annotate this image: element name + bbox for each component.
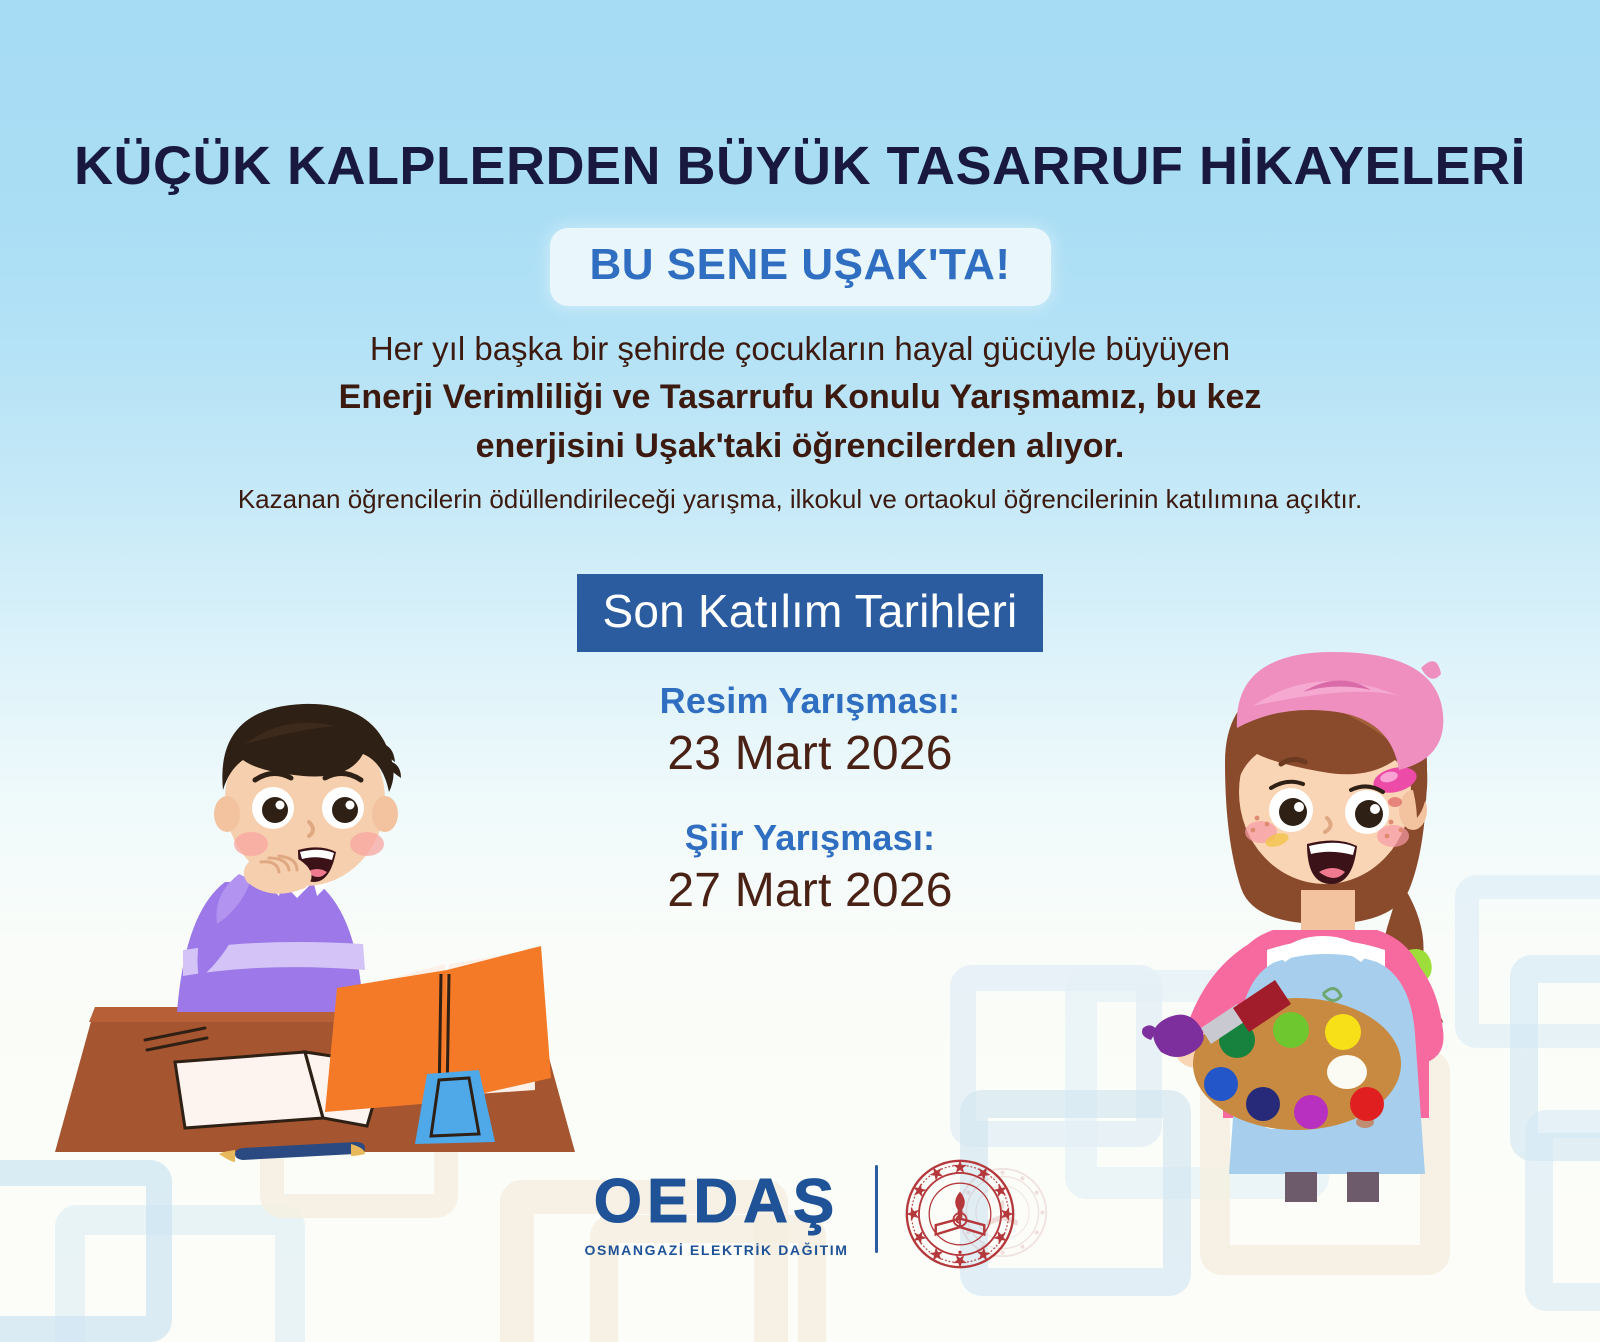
boy-reading-at-desk-illustration xyxy=(55,682,575,1182)
oedas-wordmark: OEDAŞ xyxy=(594,1171,839,1233)
body-line-3: enerjisini Uşak'taki öğrencilerden alıyo… xyxy=(0,422,1600,471)
deadlines-banner: Son Katılım Tarihleri xyxy=(577,574,1044,652)
body-copy: Her yıl başka bir şehirde çocukların hay… xyxy=(0,326,1600,518)
drawing-contest-label: Resim Yarışması: xyxy=(520,680,1100,722)
meb-seal xyxy=(904,1158,1016,1270)
poster-root: KÜÇÜK KALPLERDEN BÜYÜK TASARRUF HİKAYELE… xyxy=(0,0,1600,1342)
logo-divider xyxy=(875,1165,878,1253)
oedas-logo: OEDAŞ OSMANGAZİ ELEKTRİK DAĞITIM xyxy=(584,1171,848,1258)
poetry-contest-label: Şiir Yarışması: xyxy=(520,817,1100,859)
drawing-contest-date: 23 Mart 2026 xyxy=(520,726,1100,781)
subheadline-badge: BU SENE UŞAK'TA! xyxy=(550,228,1051,306)
subheadline-container: BU SENE UŞAK'TA! xyxy=(0,228,1600,306)
deadlines-section: Son Katılım Tarihleri Resim Yarışması: 2… xyxy=(520,574,1100,918)
poetry-contest-date: 27 Mart 2026 xyxy=(520,863,1100,918)
oedas-tagline: OSMANGAZİ ELEKTRİK DAĞITIM xyxy=(584,1242,848,1258)
footer-logos: OEDAŞ OSMANGAZİ ELEKTRİK DAĞITIM xyxy=(0,1158,1600,1270)
body-line-1: Her yıl başka bir şehirde çocukların hay… xyxy=(0,326,1600,373)
girl-painter-with-palette-illustration xyxy=(1125,632,1525,1202)
body-line-2: Enerji Verimliliği ve Tasarrufu Konulu Y… xyxy=(0,373,1600,422)
body-line-4: Kazanan öğrencilerin ödüllendirileceği y… xyxy=(0,481,1600,517)
page-title: KÜÇÜK KALPLERDEN BÜYÜK TASARRUF HİKAYELE… xyxy=(0,138,1600,195)
